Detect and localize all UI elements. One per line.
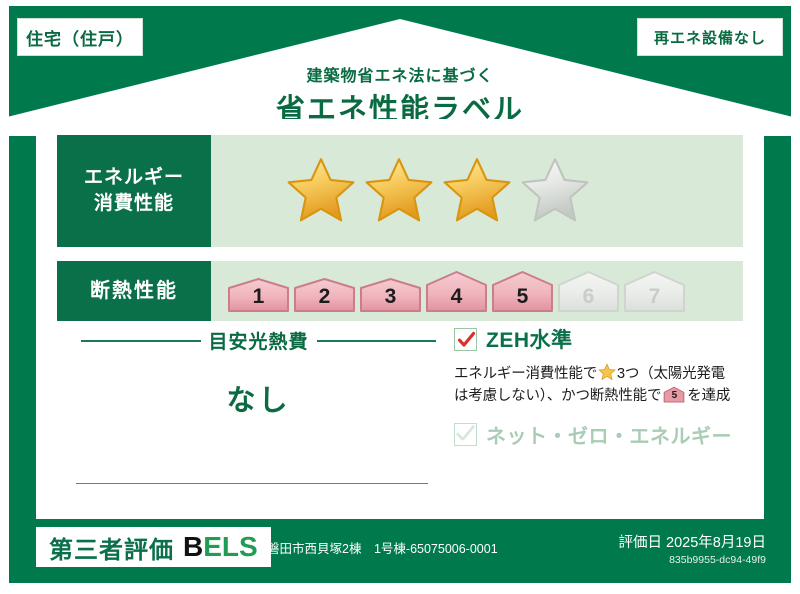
check-icon <box>457 331 476 350</box>
insulation-level-number: 3 <box>359 285 422 309</box>
star-icon <box>598 363 616 381</box>
insulation-level-number: 1 <box>227 285 290 309</box>
insulation-level-number: 5 <box>491 285 554 309</box>
energy-performance-value <box>211 135 743 247</box>
zeh-section: ZEH水準 エネルギー消費性能で3つ（太陽光発電 は考慮しない）、かつ断熱性能で… <box>454 324 754 449</box>
bels-letter-b: B <box>183 531 203 562</box>
zeh-label: ZEH水準 <box>486 324 573 354</box>
energy-performance-label: エネルギー 消費性能 <box>57 135 211 247</box>
bels-label-card: 住宅（住戸） 再エネ設備なし 建築物省エネ法に基づく 省エネ性能ラベル エネルギ… <box>9 6 791 583</box>
utility-cost-heading: 目安光熱費 <box>81 327 436 354</box>
utility-cost-label: 目安光熱費 <box>209 327 309 354</box>
insulation-level-4: 4 <box>425 270 488 313</box>
insulation-level-number: 7 <box>623 285 686 309</box>
net-zero-energy-row: ネット・ゼロ・エネルギー <box>454 420 754 449</box>
insulation-level-1: 1 <box>227 277 290 313</box>
section-divider <box>76 483 428 484</box>
insulation-badge: 5 <box>663 386 685 403</box>
header-subtitle: 建築物省エネ法に基づく <box>9 62 791 86</box>
star-rating <box>285 155 591 227</box>
star-filled-icon <box>285 155 357 227</box>
insulation-performance-label: 断熱性能 <box>57 261 211 321</box>
star-empty-icon <box>519 155 591 227</box>
star-filled-icon <box>441 155 513 227</box>
utility-cost-value: なし <box>81 377 436 419</box>
main-panel: エネルギー 消費性能 断熱性能 1234567 目安光熱費 なし <box>36 119 764 519</box>
zeh-desc-part3: を達成 <box>687 388 730 404</box>
insulation-badge-number: 5 <box>663 388 685 404</box>
net-zero-checkbox[interactable] <box>454 423 477 446</box>
insulation-performance-value: 1234567 <box>211 261 743 321</box>
insulation-level-scale: 1234567 <box>227 270 686 313</box>
certificate-id: 835b9955-dc94-49f9 <box>619 554 766 566</box>
footer-meta: 評価日 2025年8月19日 835b9955-dc94-49f9 <box>619 531 766 566</box>
energy-label-line1: エネルギー <box>84 165 184 191</box>
renewable-equipment-tag: 再エネ設備なし <box>637 18 783 56</box>
zeh-desc-part2: は考慮しない）、かつ断熱性能で <box>454 388 661 404</box>
footer: 第三者評価 BELS 磐田市西貝塚2棟 1号棟-65075006-0001 評価… <box>9 519 791 583</box>
zeh-title-row: ZEH水準 <box>454 324 754 354</box>
rule-left <box>81 340 201 342</box>
insulation-level-5: 5 <box>491 270 554 313</box>
net-zero-energy-label: ネット・ゼロ・エネルギー <box>486 420 732 449</box>
bels-logo: 第三者評価 BELS <box>36 527 271 567</box>
insulation-level-7: 7 <box>623 270 686 313</box>
insulation-level-number: 2 <box>293 285 356 309</box>
zeh-desc-stars: 3つ（太陽光発電 <box>617 366 725 382</box>
insulation-level-6: 6 <box>557 270 620 313</box>
zeh-checkbox[interactable] <box>454 328 477 351</box>
third-party-eval-label: 第三者評価 <box>49 530 174 565</box>
energy-performance-row: エネルギー 消費性能 <box>57 135 743 247</box>
insulation-level-3: 3 <box>359 277 422 313</box>
property-address: 磐田市西貝塚2棟 1号棟-65075006-0001 <box>267 538 498 557</box>
bels-letters-els: ELS <box>203 531 257 562</box>
star-filled-icon <box>363 155 435 227</box>
insulation-performance-row: 断熱性能 1234567 <box>57 261 743 321</box>
rule-right <box>317 340 437 342</box>
zeh-description: エネルギー消費性能で3つ（太陽光発電 は考慮しない）、かつ断熱性能で5を達成 <box>454 363 754 408</box>
building-type-tag: 住宅（住戸） <box>17 18 143 56</box>
zeh-desc-part1: エネルギー消費性能で <box>454 366 597 382</box>
insulation-level-number: 6 <box>557 285 620 309</box>
energy-label-line2: 消費性能 <box>94 191 174 217</box>
check-icon-disabled <box>455 424 476 445</box>
insulation-level-2: 2 <box>293 277 356 313</box>
insulation-level-number: 4 <box>425 285 488 309</box>
evaluation-date: 評価日 2025年8月19日 <box>619 531 766 552</box>
bels-wordmark: BELS <box>183 531 258 563</box>
